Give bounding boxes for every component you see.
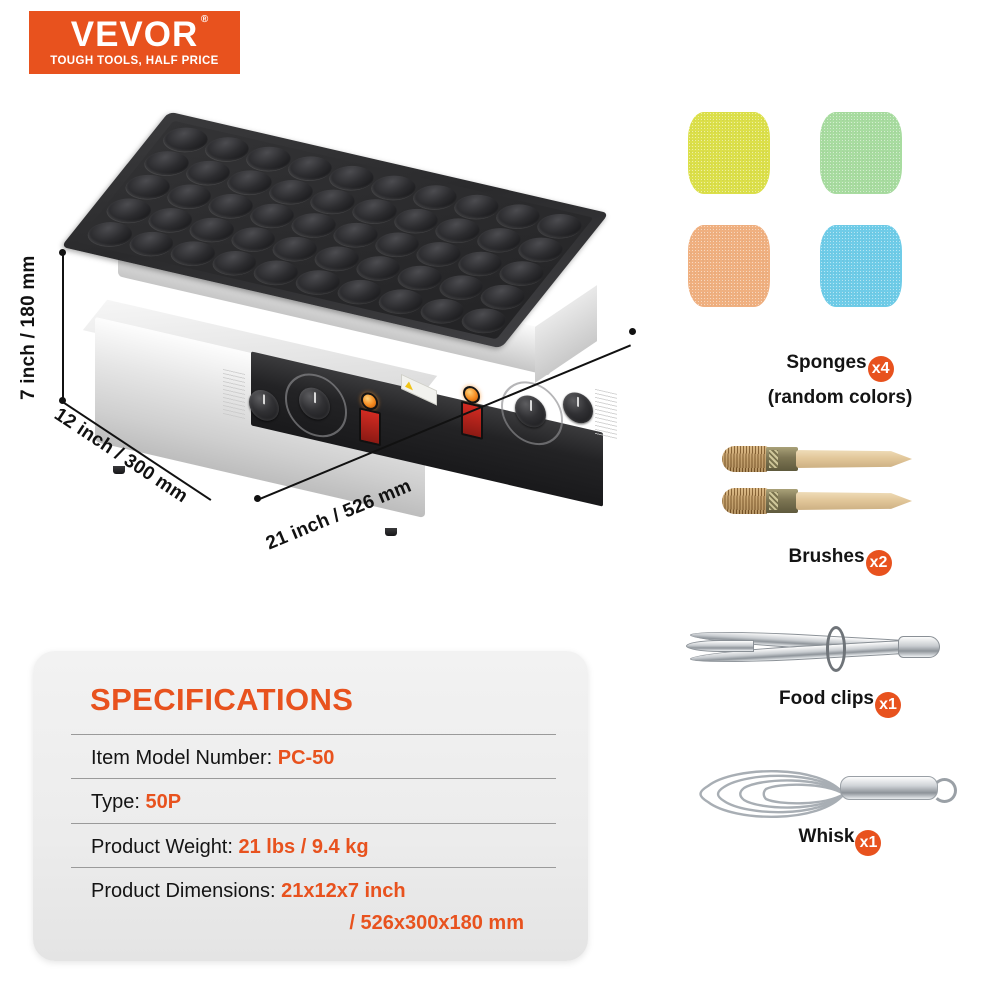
whisk-handle: [840, 776, 938, 800]
brand-name-text: VEVOR: [71, 15, 199, 54]
spec-row-weight: Product Weight: 21 lbs / 9.4 kg: [71, 823, 556, 867]
product-image: [55, 130, 665, 550]
spec-value-metric: / 526x300x180 mm: [91, 911, 556, 935]
accessory-qty-badge: x4: [868, 356, 894, 382]
accessory-caption-whisk: Whiskx1: [690, 826, 990, 856]
dim-endpoint-dot: [629, 328, 636, 335]
dimension-label-height: 7 inch / 180 mm: [18, 255, 40, 400]
accessory-brushes: [722, 446, 942, 536]
brush-handle: [796, 450, 912, 468]
appliance-foot: [385, 528, 397, 536]
tongs-icon: [686, 618, 938, 674]
spec-value: 21 lbs / 9.4 kg: [238, 836, 368, 858]
timer-knob[interactable]: [563, 389, 593, 426]
spec-label: Product Dimensions:: [91, 880, 281, 902]
whisk-icon: [694, 768, 956, 820]
brush-bristles: [722, 488, 768, 514]
griddle-well-grid: [76, 121, 593, 340]
brand-name: VEVOR®: [71, 17, 199, 52]
accessory-sponges: [688, 112, 938, 337]
accessory-qty-badge: x2: [866, 550, 892, 576]
accessory-caption-brushes: Brushesx2: [690, 546, 990, 576]
registered-mark: ®: [201, 15, 209, 25]
brush-bristles: [722, 446, 768, 472]
specifications-list: Item Model Number: PC-50 Type: 50P Produ…: [71, 734, 556, 943]
spec-value: 50P: [145, 791, 181, 813]
accessory-caption-sponges: Spongesx4 (random colors): [690, 352, 990, 409]
spec-label: Product Weight:: [91, 836, 238, 858]
whisk-hanging-loop: [932, 778, 957, 803]
tong-handle-end: [898, 636, 940, 658]
power-switch[interactable]: [359, 407, 381, 446]
accessory-note: (random colors): [690, 387, 990, 409]
spec-label: Item Model Number:: [91, 747, 278, 769]
sponge-icon: [688, 225, 770, 307]
pastry-brush-icon: [722, 488, 914, 516]
spec-row-dimensions: Product Dimensions: 21x12x7 inch / 526x3…: [71, 867, 556, 943]
warning-triangle-icon: [405, 380, 413, 391]
tong-lock-ring: [826, 626, 846, 672]
sponge-icon: [820, 225, 902, 307]
brand-tagline: TOUGH TOOLS, HALF PRICE: [50, 56, 219, 68]
spec-row-type: Type: 50P: [71, 778, 556, 822]
spec-value: 21x12x7 inch: [281, 880, 406, 902]
specifications-card: SPECIFICATIONS Item Model Number: PC-50 …: [33, 651, 588, 961]
spec-row-model: Item Model Number: PC-50: [71, 734, 556, 778]
specifications-title: SPECIFICATIONS: [90, 682, 353, 718]
brush-handle: [796, 492, 912, 510]
accessory-caption-food-clips: Food clipsx1: [690, 688, 990, 718]
spec-label: Type:: [91, 791, 145, 813]
product-spec-page: VEVOR® TOUGH TOOLS, HALF PRICE: [0, 0, 1000, 1000]
sponge-icon: [688, 112, 770, 194]
accessory-name: Brushes: [788, 546, 864, 567]
brush-ferrule: [766, 447, 798, 471]
accessory-name: Food clips: [779, 688, 874, 709]
tong-tip: [686, 640, 754, 652]
scale-markings: [223, 369, 245, 420]
accessory-name: Whisk: [799, 826, 855, 847]
accessory-qty-badge: x1: [875, 692, 901, 718]
scale-markings: [595, 389, 617, 440]
brush-ferrule: [766, 489, 798, 513]
accessory-name: Sponges: [786, 352, 866, 373]
griddle-skirt-side: [535, 285, 597, 383]
pastry-brush-icon: [722, 446, 914, 474]
accessory-qty-badge: x1: [855, 830, 881, 856]
vevor-logo: VEVOR® TOUGH TOOLS, HALF PRICE: [29, 11, 240, 74]
whisk-wires: [694, 768, 854, 820]
sponge-icon: [820, 112, 902, 194]
spec-value: PC-50: [278, 747, 335, 769]
timer-knob[interactable]: [249, 387, 279, 424]
dim-line-height: [62, 252, 64, 400]
